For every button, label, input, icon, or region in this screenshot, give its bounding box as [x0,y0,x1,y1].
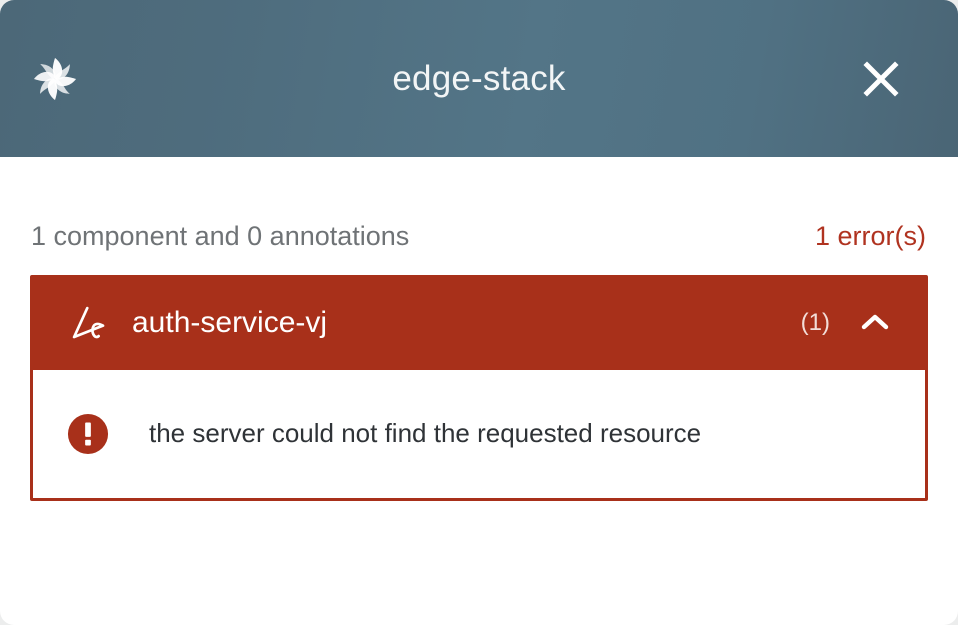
error-exclamation-icon [67,413,109,455]
close-button[interactable] [858,56,904,102]
component-count-label: 1 component and 0 annotations [31,221,409,252]
error-message: the server could not find the requested … [149,417,701,451]
edge-stack-dialog: edge-stack 1 component and 0 annotations… [0,0,958,625]
error-list: the server could not find the requested … [33,370,925,498]
component-name-label: auth-service-vj [132,306,327,340]
title-bar: edge-stack [0,0,958,157]
ambassador-triangle-icon [68,302,110,344]
component-card: auth-service-vj (1) the server could not… [30,275,928,501]
ambassador-pinwheel-logo-icon [30,54,80,104]
list-item: the server could not find the requested … [33,406,925,462]
close-x-icon [860,58,902,100]
component-header-auth-service-vj[interactable]: auth-service-vj (1) [30,275,928,370]
collapse-toggle-button[interactable] [856,304,894,342]
chevron-up-icon [858,306,892,340]
summary-row: 1 component and 0 annotations 1 error(s) [31,157,926,252]
component-error-badge: (1) [801,309,830,337]
dialog-body: 1 component and 0 annotations 1 error(s)… [0,157,958,501]
page-title: edge-stack [0,59,958,99]
error-count-label: 1 error(s) [815,221,926,252]
